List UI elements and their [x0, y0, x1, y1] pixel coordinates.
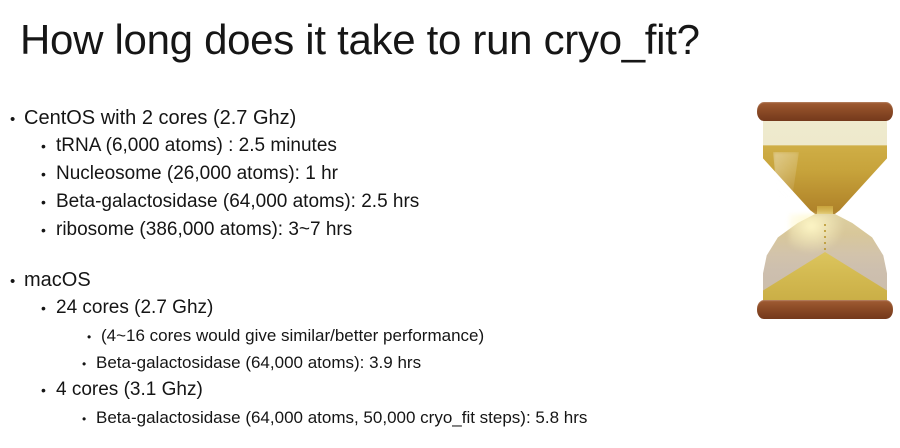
bullet-icon: • [10, 274, 24, 289]
sand-grain [824, 248, 826, 250]
bullet-icon: • [87, 331, 101, 343]
bullet-icon: • [82, 358, 96, 370]
hourglass-glass [763, 118, 887, 304]
bullet-icon: • [41, 383, 56, 397]
sand-grain [824, 242, 826, 244]
bullet-icon: • [82, 413, 96, 425]
list-item: • tRNA (6,000 atoms) : 2.5 minutes [0, 132, 730, 160]
list-item: • Beta-galactosidase (64,000 atoms, 50,0… [0, 404, 730, 431]
list-item-label: (4~16 cores would give similar/better pe… [101, 322, 484, 349]
hourglass-icon [752, 100, 898, 322]
sand-grain [824, 230, 826, 232]
bullet-icon: • [41, 223, 56, 237]
list-item-label: tRNA (6,000 atoms) : 2.5 minutes [56, 132, 337, 160]
hourglass-glow [789, 214, 845, 254]
list-item: • ribosome (386,000 atoms): 3~7 hrs [0, 216, 730, 244]
sand-grain [824, 236, 826, 238]
list-item: • 24 cores (2.7 Ghz) [0, 294, 730, 322]
group-spacer [0, 244, 730, 266]
sand-grain [824, 224, 826, 226]
hourglass-bottom-cap [757, 300, 893, 319]
list-item: • macOS [0, 266, 730, 294]
list-item-label: CentOS with 2 cores (2.7 Ghz) [24, 104, 296, 132]
bullet-icon: • [41, 301, 56, 315]
list-item: • 4 cores (3.1 Ghz) [0, 376, 730, 404]
slide: How long does it take to run cryo_fit? •… [0, 0, 900, 448]
list-item-label: Beta-galactosidase (64,000 atoms): 2.5 h… [56, 188, 419, 216]
bullet-list: • CentOS with 2 cores (2.7 Ghz) • tRNA (… [0, 104, 730, 431]
bullet-icon: • [41, 167, 56, 181]
page-title: How long does it take to run cryo_fit? [20, 16, 700, 64]
hourglass-top-cap [757, 102, 893, 121]
list-item-label: ribosome (386,000 atoms): 3~7 hrs [56, 216, 352, 244]
list-item: • Beta-galactosidase (64,000 atoms): 2.5… [0, 188, 730, 216]
list-item-label: Beta-galactosidase (64,000 atoms, 50,000… [96, 404, 587, 431]
list-item-label: macOS [24, 266, 91, 294]
list-item: • Nucleosome (26,000 atoms): 1 hr [0, 160, 730, 188]
list-item-label: 4 cores (3.1 Ghz) [56, 376, 203, 404]
bullet-icon: • [10, 112, 24, 127]
list-item: • Beta-galactosidase (64,000 atoms): 3.9… [0, 349, 730, 376]
bullet-icon: • [41, 139, 56, 153]
list-item-label: Beta-galactosidase (64,000 atoms): 3.9 h… [96, 349, 421, 376]
bullet-icon: • [41, 195, 56, 209]
list-item-label: Nucleosome (26,000 atoms): 1 hr [56, 160, 338, 188]
list-item: • (4~16 cores would give similar/better … [0, 322, 730, 349]
list-item: • CentOS with 2 cores (2.7 Ghz) [0, 104, 730, 132]
list-item-label: 24 cores (2.7 Ghz) [56, 294, 213, 322]
